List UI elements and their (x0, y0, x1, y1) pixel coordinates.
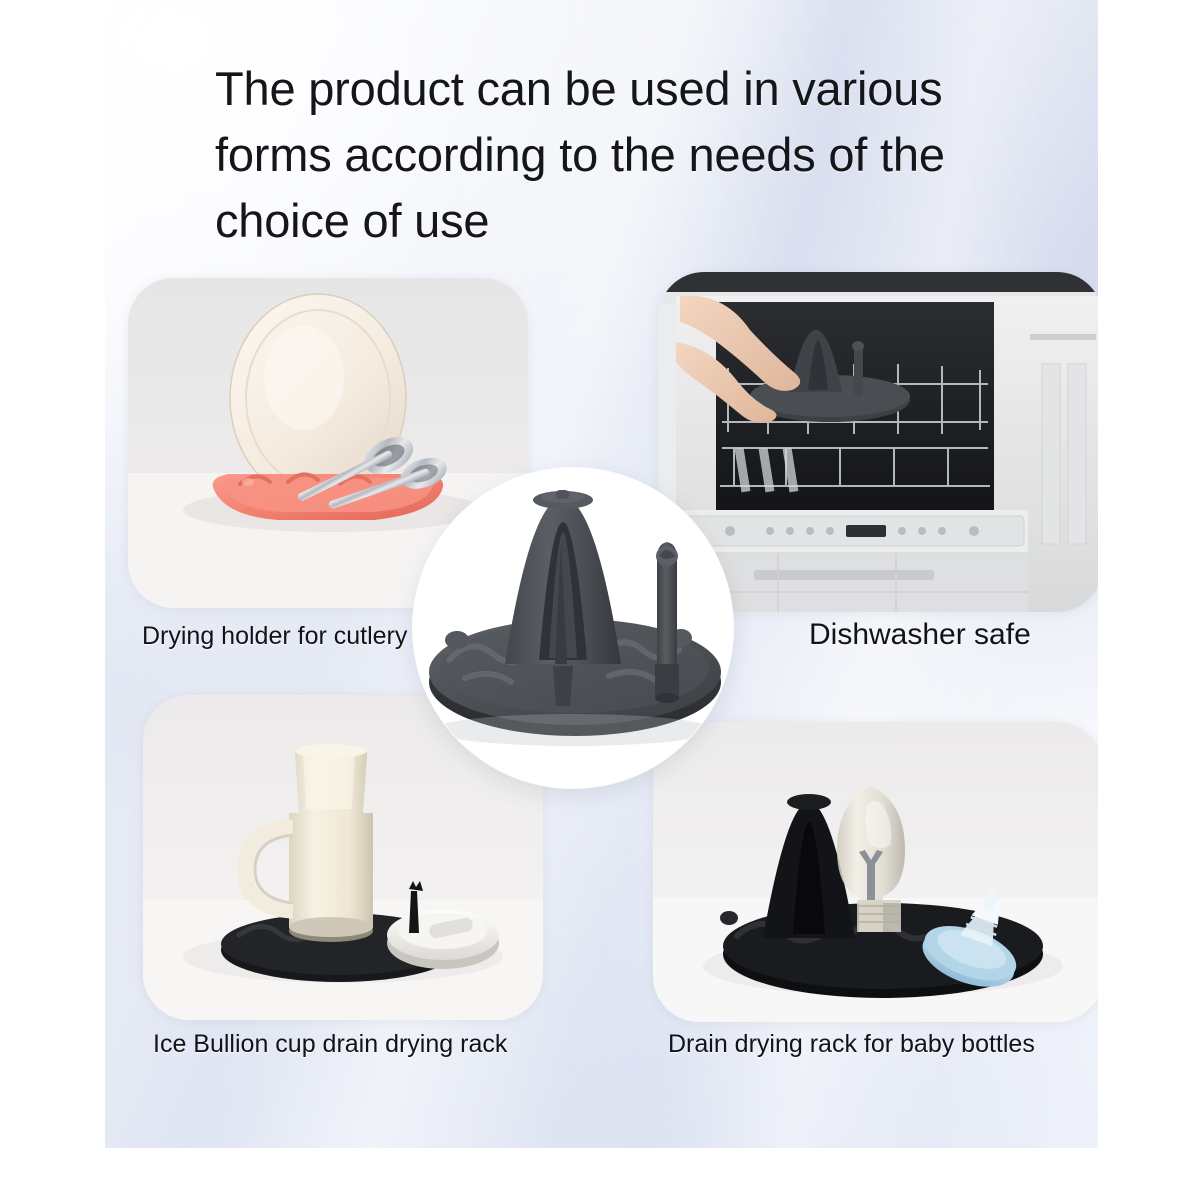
panel-dishwasher-safe (658, 272, 1098, 612)
dishwasher-scene-image (658, 272, 1098, 612)
page-title: The product can be used in various forms… (215, 56, 1025, 254)
product-hero-circle (413, 468, 733, 788)
content-area: The product can be used in various forms… (105, 0, 1098, 1148)
headline-line-3: choice of use (215, 188, 1025, 254)
caption-baby-bottle-rack: Drain drying rack for baby bottles (668, 1030, 1035, 1059)
bottles-scene-image (653, 722, 1098, 1022)
caption-drying-holder-for-cutlery: Drying holder for cutlery (142, 622, 407, 651)
panel-baby-bottle-rack (653, 722, 1098, 1022)
caption-ice-bullion-cup-rack: Ice Bullion cup drain drying rack (153, 1030, 507, 1059)
headline-line-2: forms according to the needs of the (215, 122, 1025, 188)
headline-line-1: The product can be used in various (215, 56, 1025, 122)
product-hero-image (413, 468, 733, 788)
caption-dishwasher-safe: Dishwasher safe (809, 618, 1031, 652)
infographic-canvas: The product can be used in various forms… (0, 0, 1200, 1200)
